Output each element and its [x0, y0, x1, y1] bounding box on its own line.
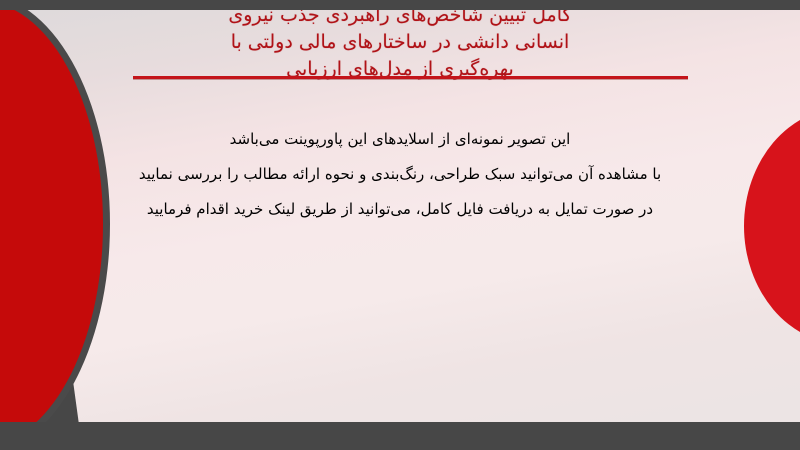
slide-title: کامل تبیین شاخص‌های راهبردی جذب نیروی ان…	[0, 2, 800, 83]
slide-content: کامل تبیین شاخص‌های راهبردی جذب نیروی ان…	[0, 0, 800, 450]
slide-title-line-2: انسانی دانشی در ساختارهای مالی دولتی با	[0, 29, 800, 56]
slide-body-line-3: در صورت تمایل به دریافت فایل کامل، می‌تو…	[0, 192, 800, 227]
slide-body-text: این تصویر نمونه‌ای از اسلایدهای این پاور…	[0, 122, 800, 227]
slide-body-line-1: این تصویر نمونه‌ای از اسلایدهای این پاور…	[0, 122, 800, 157]
title-divider-rule	[133, 76, 688, 79]
slide-frame-top	[0, 0, 800, 10]
slide-body-line-2: با مشاهده آن می‌توانید سبک طراحی، رنگ‌بن…	[0, 157, 800, 192]
slide-frame-bottom	[0, 422, 800, 450]
presentation-slide: کامل تبیین شاخص‌های راهبردی جذب نیروی ان…	[0, 0, 800, 450]
